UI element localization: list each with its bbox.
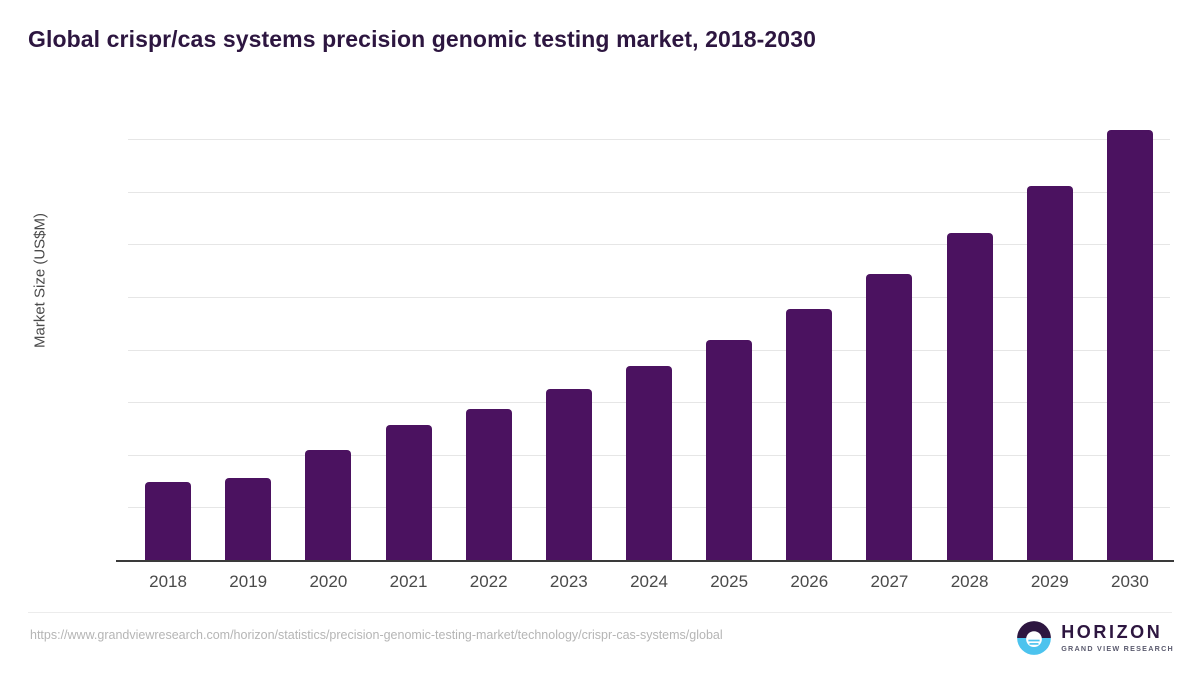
gridline bbox=[128, 192, 1170, 193]
x-axis-tick-label: 2021 bbox=[374, 572, 444, 592]
logo-subtitle: GRAND VIEW RESEARCH bbox=[1061, 645, 1174, 652]
x-axis-tick-label: 2023 bbox=[534, 572, 604, 592]
x-axis-tick-label: 2024 bbox=[614, 572, 684, 592]
x-axis-tick-label: 2025 bbox=[694, 572, 764, 592]
page-title: Global crispr/cas systems precision geno… bbox=[28, 26, 816, 53]
x-axis-line bbox=[116, 560, 1174, 562]
bar-2019[interactable] bbox=[225, 478, 271, 560]
bar-2018[interactable] bbox=[145, 482, 191, 561]
footer-divider bbox=[28, 612, 1172, 613]
horizon-logo[interactable]: HORIZON GRAND VIEW RESEARCH bbox=[1016, 620, 1174, 656]
bar-2020[interactable] bbox=[305, 450, 351, 560]
gridline bbox=[128, 297, 1170, 298]
x-axis-tick-label: 2018 bbox=[133, 572, 203, 592]
x-axis-tick-label: 2020 bbox=[293, 572, 363, 592]
bar-2026[interactable] bbox=[786, 309, 832, 560]
x-axis-tick-label: 2026 bbox=[774, 572, 844, 592]
bar-2028[interactable] bbox=[947, 233, 993, 561]
x-axis-tick-label: 2022 bbox=[454, 572, 524, 592]
y-axis-title: Market Size (US$M) bbox=[32, 141, 49, 421]
bar-2022[interactable] bbox=[466, 409, 512, 560]
bar-2029[interactable] bbox=[1027, 186, 1073, 560]
bar-2024[interactable] bbox=[626, 366, 672, 560]
source-url[interactable]: https://www.grandviewresearch.com/horizo… bbox=[30, 628, 723, 642]
horizon-logo-icon bbox=[1016, 620, 1052, 656]
bar-2021[interactable] bbox=[386, 425, 432, 560]
chart-page: Global crispr/cas systems precision geno… bbox=[0, 0, 1200, 675]
bar-2025[interactable] bbox=[706, 340, 752, 560]
x-axis-tick-label: 2030 bbox=[1095, 572, 1165, 592]
bar-2030[interactable] bbox=[1107, 130, 1153, 560]
gridline bbox=[128, 244, 1170, 245]
bar-2027[interactable] bbox=[866, 274, 912, 560]
logo-text: HORIZON GRAND VIEW RESEARCH bbox=[1061, 623, 1174, 652]
gridline bbox=[128, 350, 1170, 351]
plot-area: 0250500750100012501500175020002018201920… bbox=[128, 118, 1170, 560]
logo-name: HORIZON bbox=[1061, 623, 1174, 641]
x-axis-tick-label: 2027 bbox=[854, 572, 924, 592]
bar-2023[interactable] bbox=[546, 389, 592, 560]
x-axis-tick-label: 2029 bbox=[1015, 572, 1085, 592]
chart-container: Market Size (US$M) 025050075010001250150… bbox=[0, 72, 1200, 602]
gridline bbox=[128, 139, 1170, 140]
x-axis-tick-label: 2019 bbox=[213, 572, 283, 592]
x-axis-tick-label: 2028 bbox=[935, 572, 1005, 592]
